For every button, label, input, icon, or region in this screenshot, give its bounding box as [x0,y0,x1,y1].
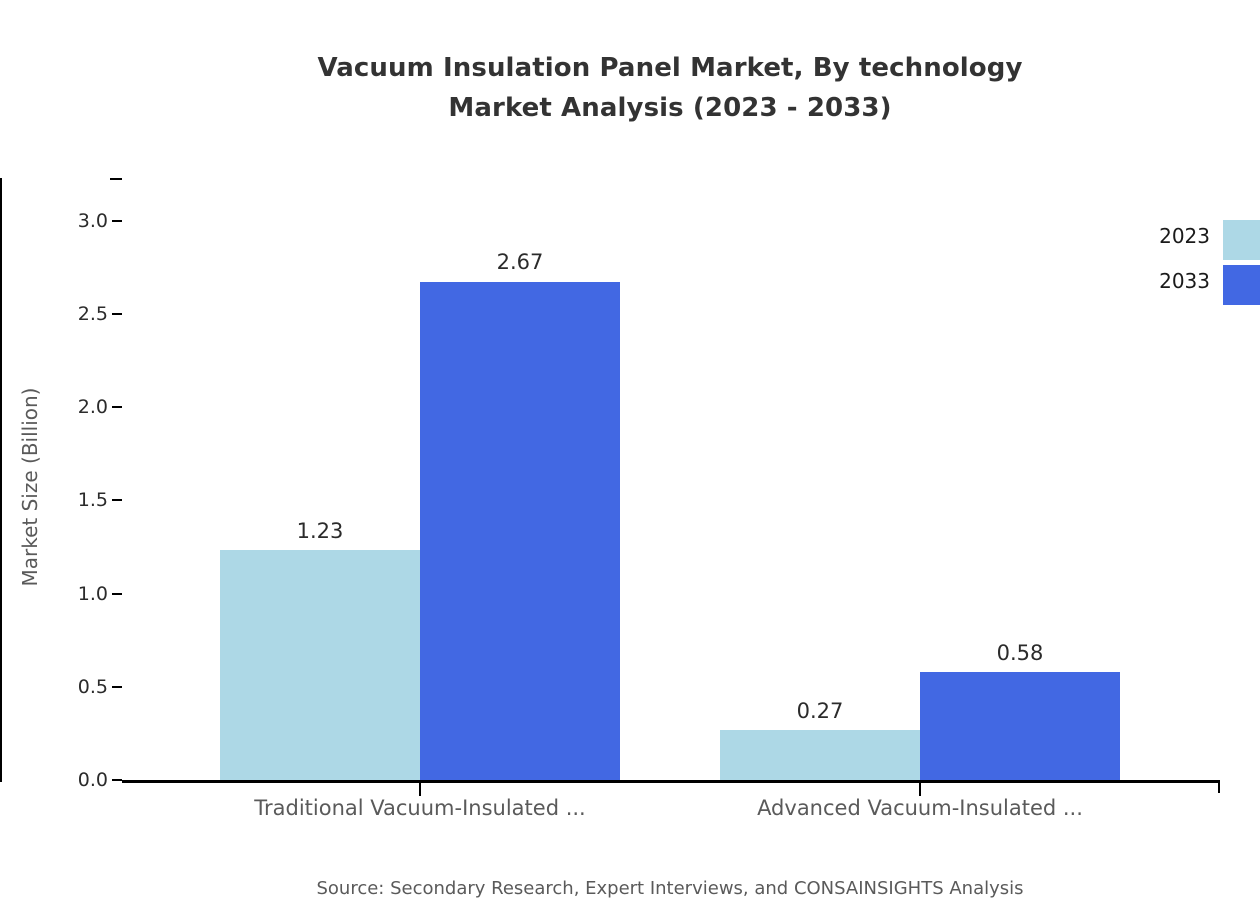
bar-2023-traditional[interactable] [220,550,420,780]
y-tick-3 [112,499,122,501]
bar-value-label-2023-advanced: 0.27 [720,701,920,722]
y-tick-1 [112,686,122,688]
y-tick-2 [112,593,122,595]
y-tick-label-0: 0.0 [48,771,108,790]
legend-label-2033: 2033 [1130,271,1210,291]
bar-2023-advanced[interactable] [720,730,920,780]
y-tick-label-2: 1.0 [48,585,108,604]
x-axis-spine [122,780,1220,783]
bar-chart: Vacuum Insulation Panel Market, By techn… [0,0,1260,920]
legend-swatch-2033 [1223,265,1260,305]
bar-value-label-2033-traditional: 2.67 [420,252,620,273]
y-tick-0 [112,779,122,781]
x-tick-label-1: Advanced Vacuum-Insulated ... [710,795,1130,821]
source-note: Source: Secondary Research, Expert Inter… [0,878,1260,899]
chart-title-line-2: Market Analysis (2023 - 2033) [0,88,1260,128]
y-tick-label-3: 1.5 [48,491,108,510]
legend-label-2023: 2023 [1130,226,1210,246]
chart-title-line-1: Vacuum Insulation Panel Market, By techn… [0,48,1260,88]
legend-swatch-2023 [1223,220,1260,260]
y-axis-title: Market Size (Billion) [18,237,42,737]
bar-value-label-2033-advanced: 0.58 [920,643,1120,664]
y-axis-spine [0,178,2,782]
bar-2033-advanced[interactable] [920,672,1120,780]
chart-title: Vacuum Insulation Panel Market, By techn… [0,48,1260,128]
y-tick-6 [112,220,122,222]
y-tick-label-4: 2.0 [48,398,108,417]
bar-2033-traditional[interactable] [420,282,620,780]
y-tick-label-5: 2.5 [48,305,108,324]
y-tick-label-6: 3.0 [48,212,108,231]
y-tick-4 [112,406,122,408]
y-axis-top-cap [110,178,122,180]
x-axis-end-cap [1218,780,1220,793]
bar-value-label-2023-traditional: 1.23 [220,521,420,542]
y-tick-5 [112,313,122,315]
y-tick-label-1: 0.5 [48,678,108,697]
x-tick-label-0: Traditional Vacuum-Insulated ... [210,795,630,821]
